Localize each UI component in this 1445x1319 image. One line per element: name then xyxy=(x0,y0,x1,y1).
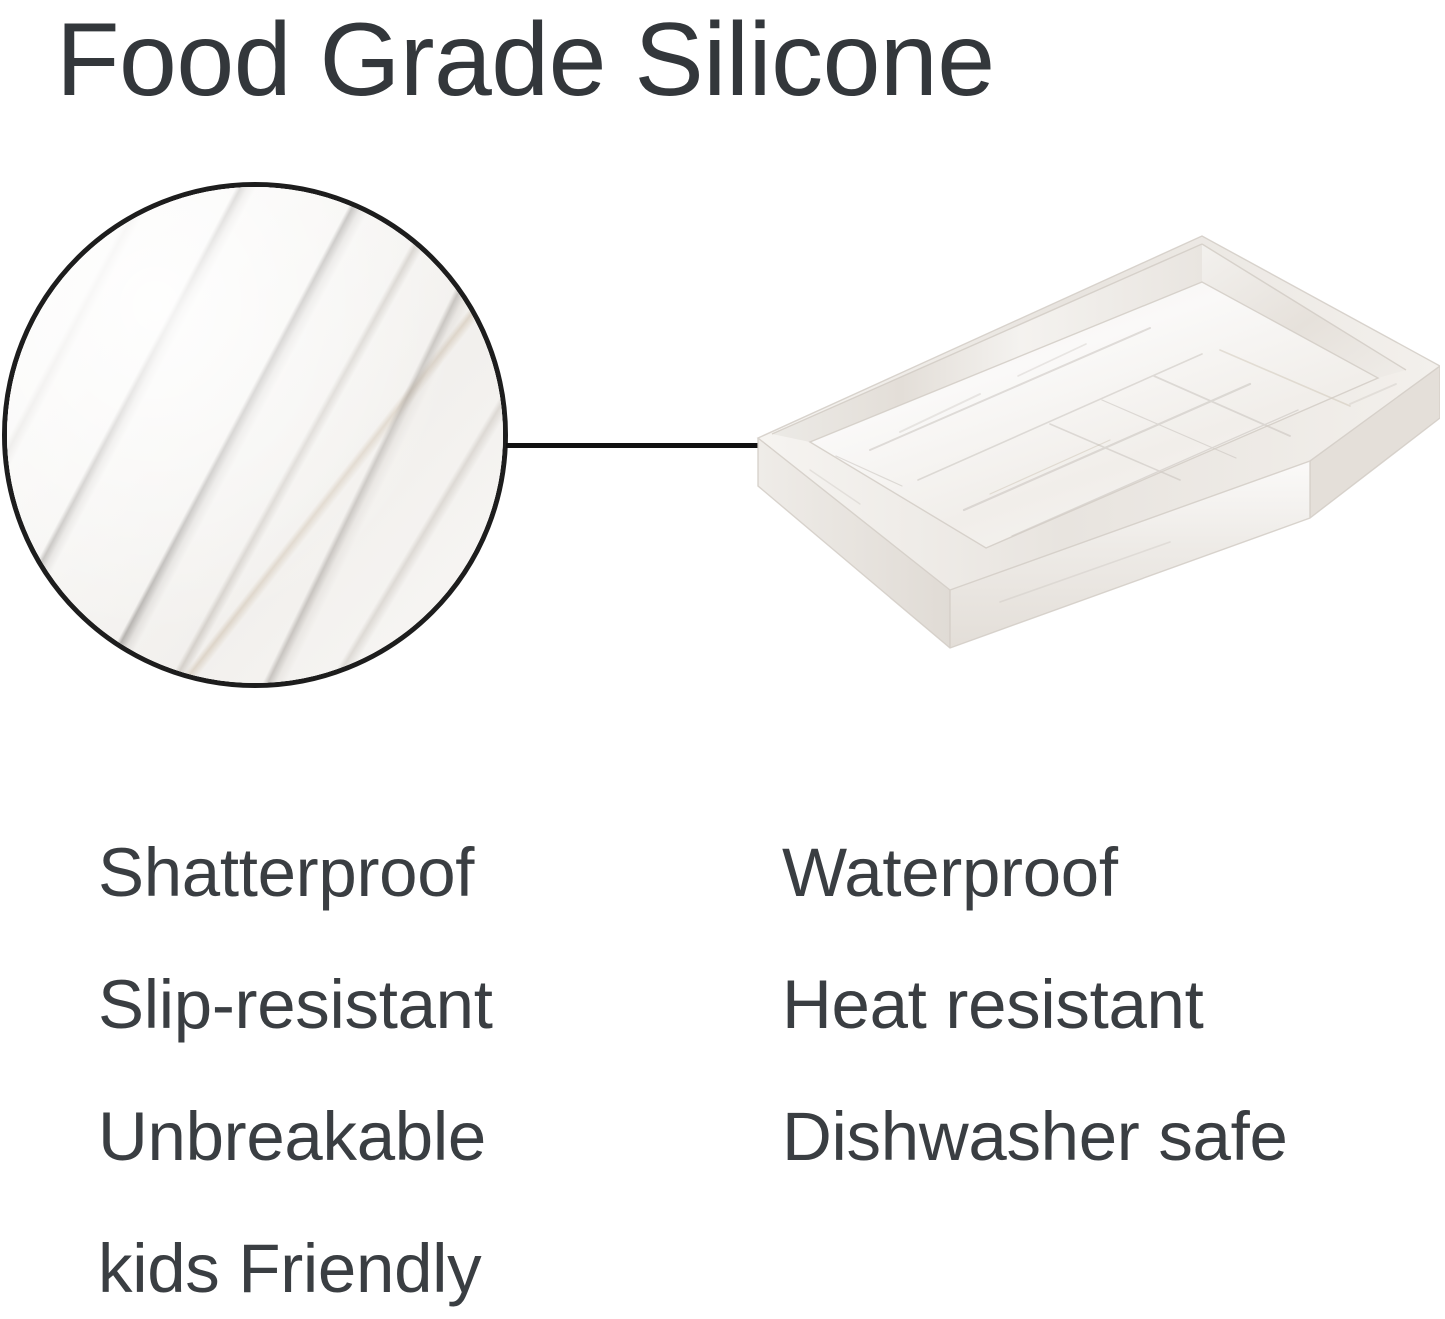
marble-texture-fill xyxy=(2,182,508,688)
tray-illustration xyxy=(750,218,1440,688)
feature-list: Shatterproof Waterproof Slip-resistant H… xyxy=(98,838,1398,1319)
feature-dishwasher-safe: Dishwasher safe xyxy=(782,1102,1398,1171)
infographic-canvas: Food Grade Silicone xyxy=(0,0,1445,1319)
feature-row: Slip-resistant Heat resistant xyxy=(98,970,1398,1102)
feature-heat-resistant: Heat resistant xyxy=(782,970,1398,1039)
feature-waterproof: Waterproof xyxy=(782,838,1398,907)
feature-shatterproof: Shatterproof xyxy=(98,838,782,907)
feature-slip-resistant: Slip-resistant xyxy=(98,970,782,1039)
marble-texture-closeup-circle xyxy=(2,182,508,688)
page-title: Food Grade Silicone xyxy=(56,4,1396,116)
product-tray-image xyxy=(750,218,1440,688)
feature-kids-friendly: kids Friendly xyxy=(98,1234,782,1303)
feature-row: kids Friendly xyxy=(98,1234,1398,1319)
feature-row: Unbreakable Dishwasher safe xyxy=(98,1102,1398,1234)
feature-unbreakable: Unbreakable xyxy=(98,1102,782,1171)
feature-row: Shatterproof Waterproof xyxy=(98,838,1398,970)
